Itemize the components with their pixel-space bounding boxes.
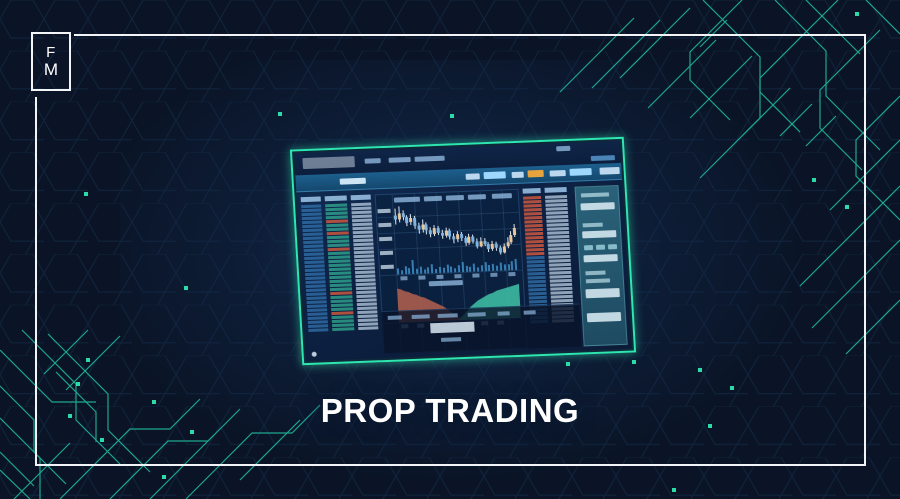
- candle: [461, 232, 463, 241]
- candle: [426, 222, 428, 234]
- fm-logo-letter-f: F: [46, 45, 56, 60]
- chart-ohlc-3: [468, 194, 486, 200]
- submit-order-button[interactable]: [585, 288, 619, 298]
- volume-bar: [484, 262, 487, 272]
- volume-bar: [416, 269, 418, 274]
- candle: [422, 220, 424, 232]
- orderbook-row[interactable]: [332, 327, 354, 331]
- candle: [510, 231, 512, 244]
- candle: [457, 231, 459, 242]
- candle: [500, 246, 502, 255]
- balance-label: [585, 271, 605, 276]
- volume-bar: [469, 267, 471, 272]
- column-header: [351, 195, 371, 201]
- console-tab-1[interactable]: [388, 315, 402, 320]
- candle: [496, 241, 498, 250]
- quantity-label: [583, 223, 603, 228]
- orderbook-row[interactable]: [358, 326, 378, 330]
- frame-top-line: [74, 34, 866, 36]
- monitor-bezel: [290, 137, 636, 365]
- volume-bar: [481, 265, 483, 271]
- column-header: [325, 195, 347, 201]
- candle: [402, 211, 404, 221]
- buy-button[interactable]: [584, 245, 593, 250]
- positions-console[interactable]: [381, 304, 581, 355]
- search-input[interactable]: [302, 156, 355, 169]
- volume-bar: [450, 267, 452, 273]
- volume-bar: [431, 264, 434, 273]
- menu-item-3[interactable]: [414, 156, 444, 162]
- candle: [465, 236, 467, 246]
- order-total-field[interactable]: [583, 254, 617, 262]
- candle: [453, 233, 455, 243]
- ticker-label-1: [466, 173, 480, 180]
- fm-logo[interactable]: F M: [31, 32, 71, 91]
- available-label: [586, 278, 610, 283]
- candle: [488, 242, 490, 252]
- candle: [445, 228, 447, 238]
- candle: [418, 222, 420, 233]
- candle: [492, 240, 494, 250]
- console-tab-5[interactable]: [498, 311, 510, 315]
- ticker-value-3: [569, 168, 591, 176]
- volume-bar: [488, 265, 490, 271]
- candle: [468, 234, 470, 245]
- volume-bar: [443, 268, 445, 273]
- candle: [472, 235, 474, 244]
- candle: [507, 238, 509, 249]
- volume-bar: [404, 267, 406, 275]
- candlestick-series: [392, 202, 517, 259]
- volume-bar: [401, 270, 403, 275]
- secondary-action-button[interactable]: [587, 312, 621, 322]
- volume-bar: [507, 265, 509, 271]
- candle: [514, 224, 516, 237]
- candle: [414, 216, 416, 229]
- panel-title: [581, 192, 609, 197]
- volume-bar: [458, 265, 460, 272]
- volume-bar: [473, 264, 475, 272]
- volume-bar: [461, 262, 464, 272]
- ticker-value-2: [527, 170, 543, 178]
- subbar-tab[interactable]: [340, 178, 366, 185]
- candle: [394, 209, 396, 225]
- candle: [449, 229, 451, 240]
- menu-item-1[interactable]: [365, 158, 381, 164]
- volume-bar: [511, 261, 514, 270]
- order-price-field[interactable]: [580, 202, 614, 210]
- candle: [480, 238, 482, 248]
- user-chip[interactable]: [591, 155, 615, 161]
- volume-bar: [446, 264, 448, 272]
- volume-bar: [439, 266, 441, 272]
- candle: [398, 206, 400, 222]
- candle: [430, 227, 432, 237]
- trading-terminal-monitor[interactable]: [290, 137, 636, 365]
- candle: [433, 225, 435, 236]
- volume-bar: [412, 260, 415, 274]
- sell-button[interactable]: [596, 245, 605, 250]
- chart-symbol-label: [394, 197, 420, 203]
- column-header: [523, 188, 541, 194]
- console-tab-6[interactable]: [524, 310, 536, 314]
- ticker-label-3: [550, 170, 566, 177]
- volume-bar: [477, 267, 479, 272]
- console-tab-4[interactable]: [468, 312, 486, 317]
- ticker-value-1: [483, 171, 505, 179]
- terminal-screen: [294, 141, 632, 361]
- chart-ohlc-2: [446, 195, 464, 201]
- volume-bar: [427, 268, 429, 274]
- volume-bar: [435, 269, 437, 274]
- candle: [406, 215, 408, 226]
- chart-timeframe[interactable]: [492, 193, 512, 199]
- volume-bar: [504, 264, 506, 270]
- account-label[interactable]: [556, 146, 570, 152]
- order-quantity-field[interactable]: [582, 230, 616, 238]
- volume-bar: [454, 268, 456, 273]
- volume-bar: [465, 266, 467, 272]
- page-title: PROP TRADING: [0, 392, 900, 430]
- frame-bottom-line: [35, 464, 866, 466]
- candle: [437, 226, 439, 235]
- console-tab-3[interactable]: [438, 313, 458, 318]
- volume-bar: [500, 262, 502, 270]
- volume-bar: [420, 267, 422, 274]
- ticker-label-2: [512, 172, 524, 178]
- volume-bar: [408, 268, 410, 274]
- candle: [441, 230, 443, 239]
- terminal-body: [296, 179, 632, 361]
- candle: [410, 214, 412, 225]
- volume-bar: [496, 266, 498, 271]
- volume-bar: [515, 258, 518, 270]
- candle: [476, 239, 478, 249]
- volume-bar: [492, 264, 494, 271]
- column-header: [544, 187, 566, 193]
- console-tab-2[interactable]: [412, 314, 430, 319]
- chart-ohlc-1: [424, 196, 442, 202]
- order-entry-panel[interactable]: [574, 185, 627, 346]
- volume-bar: [397, 268, 399, 274]
- console-hint: [441, 337, 461, 342]
- volume-bar: [424, 270, 426, 274]
- column-header: [301, 196, 321, 202]
- console-input[interactable]: [430, 322, 475, 334]
- poster-canvas: F M PROP TRADING: [0, 0, 900, 499]
- reset-button[interactable]: [608, 244, 617, 249]
- fm-logo-letter-m: M: [44, 61, 58, 78]
- ticker-value-4: [599, 167, 619, 175]
- candle: [484, 239, 485, 247]
- orderbook-row[interactable]: [308, 328, 328, 332]
- candle: [503, 243, 505, 253]
- menu-item-2[interactable]: [389, 157, 411, 163]
